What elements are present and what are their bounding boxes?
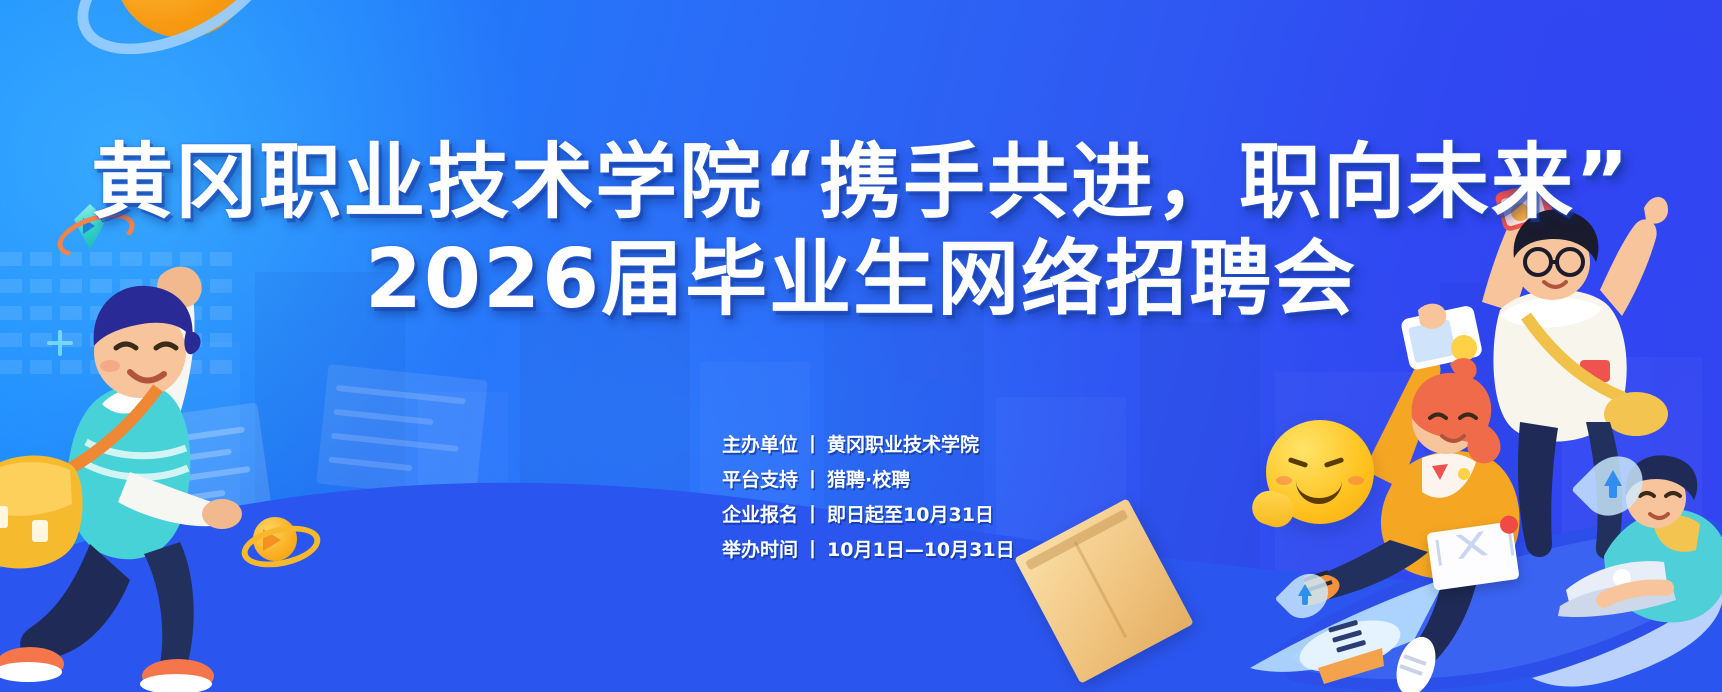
info-row: 举办时间丨10月1日—10月31日 [722, 535, 1015, 562]
info-row: 平台支持丨猎聘·校聘 [722, 465, 1015, 492]
planet-ringed-top-left-icon [52, 0, 218, 104]
info-value: 黄冈职业技术学院 [827, 430, 979, 457]
info-value: 猎聘·校聘 [827, 465, 910, 492]
info-separator: 丨 [803, 500, 822, 527]
info-row: 主办单位丨黄冈职业技术学院 [722, 430, 1015, 457]
info-row: 企业报名丨即日起至10月31日 [722, 500, 1015, 527]
title-line-1: 黄冈职业技术学院“携手共进，职向未来” [0, 140, 1722, 227]
info-value: 10月1日—10月31日 [827, 535, 1015, 562]
event-info-block: 主办单位丨黄冈职业技术学院平台支持丨猎聘·校聘企业报名丨即日起至10月31日举办… [722, 430, 1015, 570]
info-separator: 丨 [803, 535, 822, 562]
title-line-2: 2026届毕业生网络招聘会 [0, 237, 1722, 324]
info-value: 即日起至10月31日 [827, 500, 994, 527]
location-pin-icon [1586, 454, 1640, 518]
recruitment-banner: 黄冈职业技术学院“携手共进，职向未来” 2026届毕业生网络招聘会 主办单位丨黄… [0, 0, 1722, 692]
location-pin-icon-2 [1286, 572, 1326, 620]
info-label: 平台支持 [722, 465, 798, 492]
info-label: 举办时间 [722, 535, 798, 562]
info-label: 主办单位 [722, 430, 798, 457]
banner-title: 黄冈职业技术学院“携手共进，职向未来” 2026届毕业生网络招聘会 [0, 140, 1722, 324]
info-separator: 丨 [803, 430, 822, 457]
emoji-wink-face-icon [1266, 420, 1374, 524]
info-separator: 丨 [803, 465, 822, 492]
info-label: 企业报名 [722, 500, 798, 527]
mail-notification-card-icon [1426, 521, 1519, 590]
